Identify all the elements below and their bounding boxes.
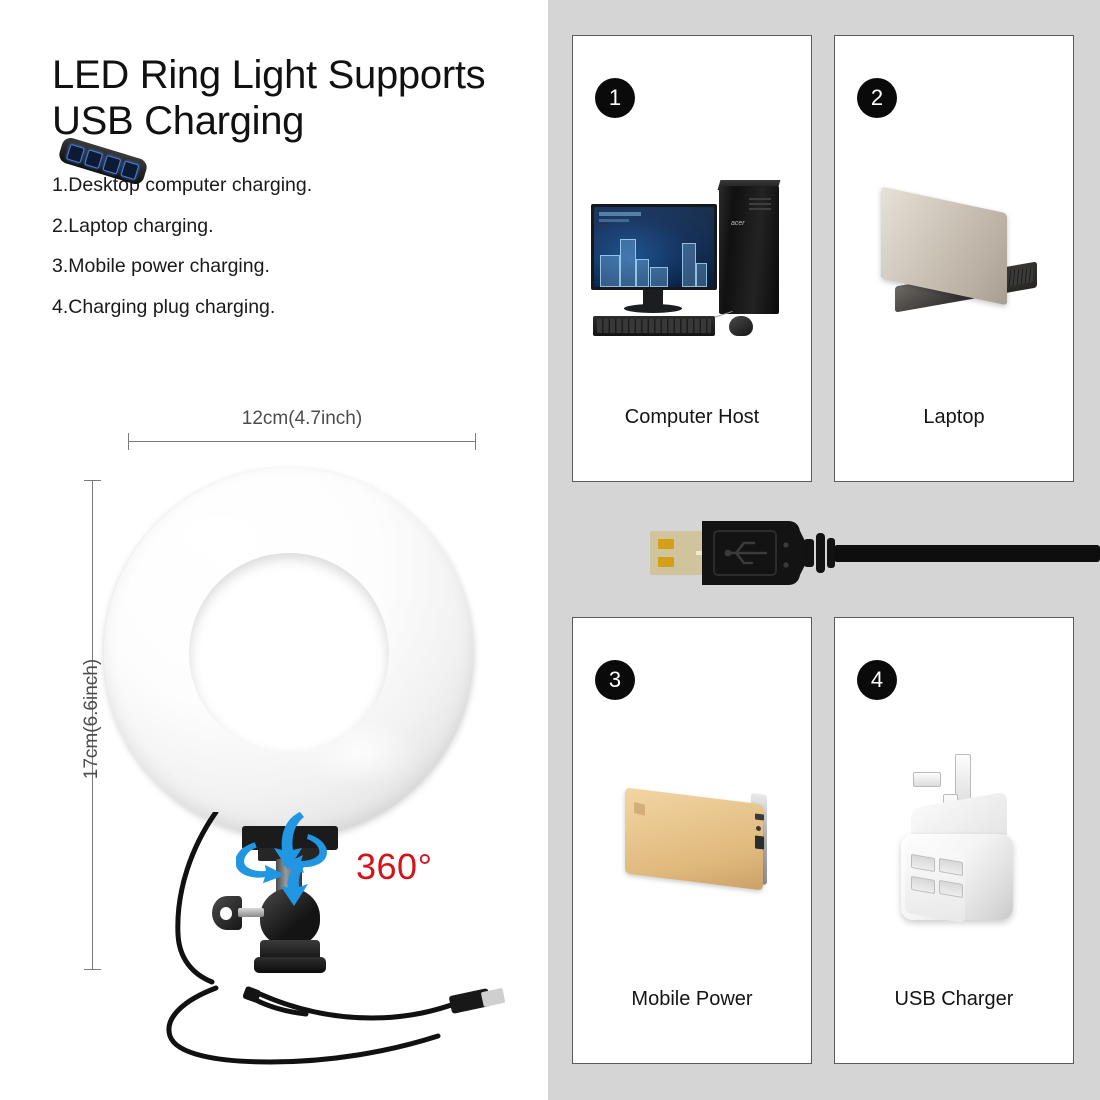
charging-source-card-1[interactable]: 1 acer <box>572 35 812 482</box>
left-info-column: LED Ring Light Supports USB Charging 1.D… <box>0 0 548 1100</box>
pc-screen-wallpaper <box>594 207 714 287</box>
controller-button-3[interactable] <box>102 155 121 175</box>
card-label: USB Charger <box>835 988 1073 1011</box>
charging-sources-panel: 1 acer <box>548 0 1100 1100</box>
desktop-computer-icon: acer <box>573 166 811 376</box>
card-label: Laptop <box>835 406 1073 429</box>
plug-pin-live <box>913 772 941 787</box>
card-badge-number: 2 <box>857 78 897 118</box>
controller-button-4[interactable] <box>120 160 139 180</box>
usb-a-connector-illustration <box>648 505 1100 605</box>
ring-light-product-image <box>104 468 474 848</box>
pc-tower: acer <box>719 186 779 314</box>
usb-wall-charger-icon <box>835 748 1073 958</box>
charging-source-card-3[interactable]: 3 Mobile Power <box>572 617 812 1064</box>
list-item: 4.Charging plug charging. <box>52 298 502 318</box>
width-tick-left <box>128 433 129 450</box>
power-bank-led <box>756 826 761 832</box>
power-bank-usb-port <box>755 835 764 849</box>
pc-monitor <box>591 204 717 290</box>
pc-keyboard <box>593 316 715 336</box>
ring-light-inner-hole <box>189 553 389 753</box>
ring-light-outer-ring <box>104 468 474 838</box>
card-label: Computer Host <box>573 406 811 429</box>
pc-brand-logo: acer <box>731 220 745 227</box>
pc-mouse <box>729 316 753 336</box>
title-line-1: LED Ring Light Supports <box>52 52 522 98</box>
feature-list: 1.Desktop computer charging. 2.Laptop ch… <box>52 176 502 338</box>
card-badge-number: 4 <box>857 660 897 700</box>
power-bank-micro-usb-port <box>755 813 764 820</box>
charging-source-card-4[interactable]: 4 USB Charger <box>834 617 1074 1064</box>
power-bank-icon <box>573 748 811 958</box>
usb-plug-end <box>449 988 506 1014</box>
controller-button-1[interactable] <box>66 144 85 164</box>
usb-metal-shell <box>650 531 702 575</box>
charging-source-card-2[interactable]: 2 Laptop <box>834 35 1074 482</box>
card-label: Mobile Power <box>573 988 811 1011</box>
page-title: LED Ring Light Supports USB Charging <box>52 52 522 145</box>
height-dimension-label: 17cm(6.6inch) <box>81 549 103 889</box>
power-cable-with-controller <box>120 812 520 1082</box>
list-item: 3.Mobile power charging. <box>52 257 502 277</box>
list-item: 2.Laptop charging. <box>52 217 502 237</box>
width-tick-right <box>475 433 476 450</box>
laptop-icon <box>835 166 1073 376</box>
card-badge-number: 1 <box>595 78 635 118</box>
width-dimension-label: 12cm(4.7inch) <box>128 408 476 430</box>
controller-button-2[interactable] <box>84 149 103 169</box>
height-tick-bottom <box>84 969 101 970</box>
card-badge-number: 3 <box>595 660 635 700</box>
width-dimension-callout: 12cm(4.7inch) <box>128 408 476 448</box>
height-tick-top <box>84 480 101 481</box>
product-infographic: LED Ring Light Supports USB Charging 1.D… <box>0 0 1100 1100</box>
usb-strain-relief <box>804 533 835 573</box>
width-dimension-line <box>128 441 476 442</box>
usb-cable <box>834 545 1100 562</box>
power-bank-body <box>625 788 763 891</box>
title-line-2: USB Charging <box>52 98 522 144</box>
